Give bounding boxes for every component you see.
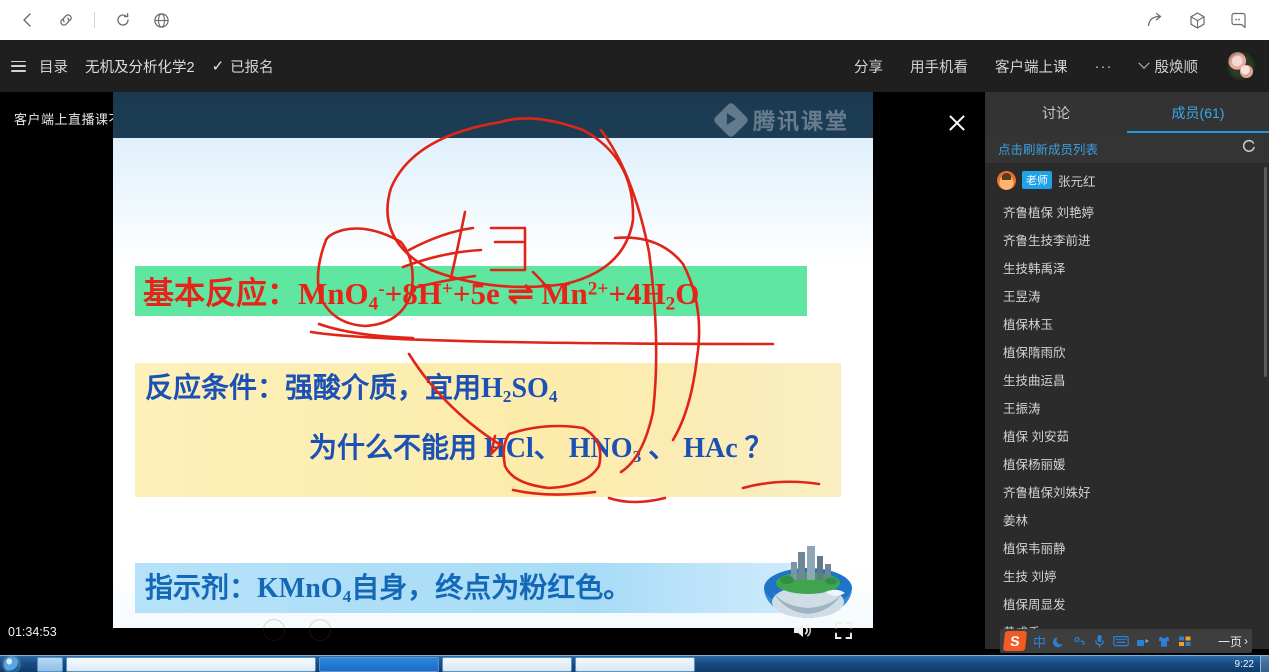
kmno4-sub: 4 bbox=[343, 587, 352, 606]
list-item[interactable]: 生技韩禹泽 bbox=[985, 253, 1269, 281]
teacher-name: 张元红 bbox=[1058, 171, 1096, 190]
list-item[interactable]: 生技 刘婷 bbox=[985, 561, 1269, 589]
video-player[interactable]: 腾讯课堂 基本反应：MnO4-+8H++5e ⇌ Mn2++4H2O 反应条件：… bbox=[113, 92, 873, 649]
list-item[interactable]: 植保周显发 bbox=[985, 589, 1269, 617]
teacher-avatar-icon bbox=[997, 171, 1016, 190]
share-link[interactable]: 分享 bbox=[854, 56, 883, 77]
mn-charge: 2+ bbox=[588, 278, 609, 299]
h2so4-so: SO bbox=[511, 373, 548, 404]
browser-toolbar bbox=[0, 0, 1269, 40]
taskbar-item-browser[interactable] bbox=[319, 657, 439, 672]
video-controls bbox=[113, 611, 873, 649]
browser-toolbar-right bbox=[1145, 10, 1269, 30]
apps-icon[interactable] bbox=[1178, 635, 1192, 648]
list-item[interactable]: 植保韦丽静 bbox=[985, 533, 1269, 561]
more-options-button[interactable]: ··· bbox=[1095, 58, 1113, 75]
list-item[interactable]: 植保杨丽媛 bbox=[985, 449, 1269, 477]
check-icon: ✓ bbox=[212, 57, 225, 75]
chevron-right-icon: › bbox=[1244, 634, 1248, 648]
water-term: +4H bbox=[608, 276, 665, 311]
windows-taskbar: 9:22 bbox=[0, 655, 1269, 672]
site-header: 目录 无机及分析化学2 ✓ 已报名 分享 用手机看 客户端上课 ··· 殷焕顺 bbox=[0, 40, 1269, 92]
equilibrium-arrow: ⇌ bbox=[508, 276, 534, 311]
tencent-logo-icon bbox=[713, 102, 750, 139]
tab-members[interactable]: 成员(61) bbox=[1127, 92, 1269, 133]
hamburger-icon[interactable] bbox=[11, 61, 26, 72]
client-class-link[interactable]: 客户端上课 bbox=[995, 56, 1068, 77]
toolbar-divider bbox=[94, 12, 95, 28]
chevron-down-icon bbox=[1138, 58, 1149, 69]
windows-orb-icon bbox=[4, 657, 19, 672]
ime-mode-chinese[interactable]: 中 bbox=[1033, 632, 1046, 651]
list-item[interactable]: 王昱涛 bbox=[985, 281, 1269, 309]
side-panel: 讨论 成员(61) 点击刷新成员列表 老师 张元红 齐鲁植保 刘艳婷 齐鲁生技李… bbox=[985, 92, 1269, 649]
kmno4-formula: KMnO bbox=[257, 573, 343, 604]
watermark-text: 腾讯课堂 bbox=[753, 104, 849, 136]
back-icon[interactable] bbox=[18, 10, 38, 30]
app-root: 目录 无机及分析化学2 ✓ 已报名 分享 用手机看 客户端上课 ··· 殷焕顺 … bbox=[0, 0, 1269, 672]
volume-icon[interactable] bbox=[791, 621, 812, 640]
taskbar-clock[interactable]: 9:22 bbox=[1235, 659, 1260, 670]
taskbar-item-recorder[interactable] bbox=[442, 657, 572, 672]
tencent-classroom-watermark: 腾讯课堂 bbox=[718, 104, 849, 136]
lecture-slide: 基本反应：MnO4-+8H++5e ⇌ Mn2++4H2O 反应条件：强酸介质，… bbox=[113, 138, 873, 628]
electron-term: +5e bbox=[453, 276, 500, 311]
question-tail: 、 HAc ？ bbox=[641, 433, 772, 464]
catalog-link[interactable]: 目录 bbox=[39, 56, 68, 77]
h-charge: + bbox=[442, 278, 453, 299]
link-icon[interactable] bbox=[56, 10, 76, 30]
moon-icon[interactable] bbox=[1053, 635, 1066, 648]
indicator-tail: 自身，终点为粉红色。 bbox=[351, 573, 631, 604]
toolbox-icon[interactable] bbox=[1136, 635, 1150, 648]
earth-city-illustration bbox=[753, 536, 863, 622]
refresh-member-list-button[interactable]: 点击刷新成员列表 bbox=[985, 133, 1269, 163]
member-list-scrollbar[interactable] bbox=[1264, 167, 1267, 377]
sogou-ime-toolbar[interactable]: S 中 一页 › bbox=[1000, 629, 1252, 653]
video-stage: 客户端上直播课不卡顿 客户端上课 腾讯课堂 基本反应：MnO4-+8H++5e … bbox=[0, 92, 985, 649]
close-icon[interactable] bbox=[947, 113, 967, 133]
hno3-sub: 3 bbox=[633, 447, 642, 466]
tab-discussion[interactable]: 讨论 bbox=[985, 92, 1127, 133]
header-left-group: 目录 无机及分析化学2 ✓ 已报名 bbox=[0, 56, 274, 77]
h2so4-sub2: 4 bbox=[549, 387, 558, 406]
start-button[interactable] bbox=[0, 656, 34, 672]
teacher-badge: 老师 bbox=[1022, 171, 1052, 189]
slide-line-question: 为什么不能用 HCl、 HNO3 、 HAc ？ bbox=[309, 426, 773, 467]
sogou-logo-icon[interactable]: S bbox=[1003, 631, 1027, 651]
ime-page-label: 一页 bbox=[1218, 633, 1242, 650]
fullscreen-icon[interactable] bbox=[834, 621, 853, 640]
panel-tabs: 讨论 成员(61) bbox=[985, 92, 1269, 133]
mno4-sub: 4 bbox=[369, 293, 379, 314]
user-menu[interactable]: 殷焕顺 bbox=[1140, 56, 1199, 77]
reload-icon[interactable] bbox=[113, 10, 133, 30]
list-item[interactable]: 齐鲁植保刘姝好 bbox=[985, 477, 1269, 505]
indicator-label: 指示剂： bbox=[145, 573, 257, 604]
list-item[interactable]: 姜林 bbox=[985, 505, 1269, 533]
course-title[interactable]: 无机及分析化学2 bbox=[85, 56, 195, 77]
taskbar-item-ie[interactable] bbox=[37, 657, 63, 672]
slide-line-conditions: 反应条件：强酸介质，宜用H2SO4 bbox=[145, 366, 558, 407]
user-name: 殷焕顺 bbox=[1155, 56, 1199, 77]
keyboard-icon[interactable] bbox=[1113, 635, 1129, 647]
globe-icon[interactable] bbox=[151, 10, 171, 30]
h-plus-term: +8H bbox=[385, 276, 442, 311]
mno4-formula: MnO bbox=[298, 276, 369, 311]
taskbar-item-wechat[interactable] bbox=[575, 657, 695, 672]
show-desktop-button[interactable] bbox=[1260, 656, 1269, 672]
microphone-icon[interactable] bbox=[1093, 634, 1106, 648]
weather-icon[interactable] bbox=[1073, 635, 1086, 648]
ime-page-indicator[interactable]: 一页 › bbox=[1218, 633, 1248, 650]
browser-toolbar-left bbox=[0, 10, 171, 30]
list-item[interactable]: 植保隋雨欣 bbox=[985, 337, 1269, 365]
water-sub: 2 bbox=[666, 293, 676, 314]
share-arrow-icon[interactable] bbox=[1145, 10, 1165, 30]
list-item[interactable]: 齐鲁生技李前进 bbox=[985, 225, 1269, 253]
mn-formula: Mn bbox=[541, 276, 588, 311]
question-label: 为什么不能用 HCl、 HNO bbox=[309, 433, 633, 464]
elapsed-timer: 01:34:53 bbox=[8, 625, 57, 639]
member-list[interactable]: 老师 张元红 齐鲁植保 刘艳婷 齐鲁生技李前进 生技韩禹泽 王昱涛 植保林玉 植… bbox=[985, 163, 1269, 649]
list-item-teacher[interactable]: 老师 张元红 bbox=[985, 163, 1269, 197]
list-item[interactable]: 生技曲运昌 bbox=[985, 365, 1269, 393]
list-item[interactable]: 王振涛 bbox=[985, 393, 1269, 421]
header-right-group: 分享 用手机看 客户端上课 ··· 殷焕顺 bbox=[854, 50, 1269, 82]
list-item[interactable]: 植保 刘安茹 bbox=[985, 421, 1269, 449]
skin-icon[interactable] bbox=[1157, 635, 1171, 648]
note-icon[interactable] bbox=[1229, 10, 1249, 30]
slide-line-indicator: 指示剂：KMnO4自身，终点为粉红色。 bbox=[145, 566, 631, 607]
enrolled-status: ✓ 已报名 bbox=[212, 56, 274, 77]
box-icon[interactable] bbox=[1187, 10, 1207, 30]
water-o: O bbox=[675, 276, 699, 311]
conditions-label: 反应条件：强酸介质，宜用H bbox=[145, 373, 503, 404]
basic-reaction-label: 基本反应： bbox=[143, 276, 298, 311]
enrolled-label: 已报名 bbox=[230, 56, 274, 77]
list-item[interactable]: 植保林玉 bbox=[985, 309, 1269, 337]
taskbar-item-explorer[interactable] bbox=[66, 657, 316, 672]
refresh-icon[interactable] bbox=[1241, 139, 1256, 157]
video-controls-right bbox=[791, 621, 873, 640]
refresh-label: 点击刷新成员列表 bbox=[998, 139, 1098, 158]
slide-line-basic-reaction: 基本反应：MnO4-+8H++5e ⇌ Mn2++4H2O bbox=[143, 268, 699, 315]
avatar[interactable] bbox=[1225, 50, 1257, 82]
list-item[interactable]: 齐鲁植保 刘艳婷 bbox=[985, 197, 1269, 225]
watch-on-mobile-link[interactable]: 用手机看 bbox=[910, 56, 968, 77]
